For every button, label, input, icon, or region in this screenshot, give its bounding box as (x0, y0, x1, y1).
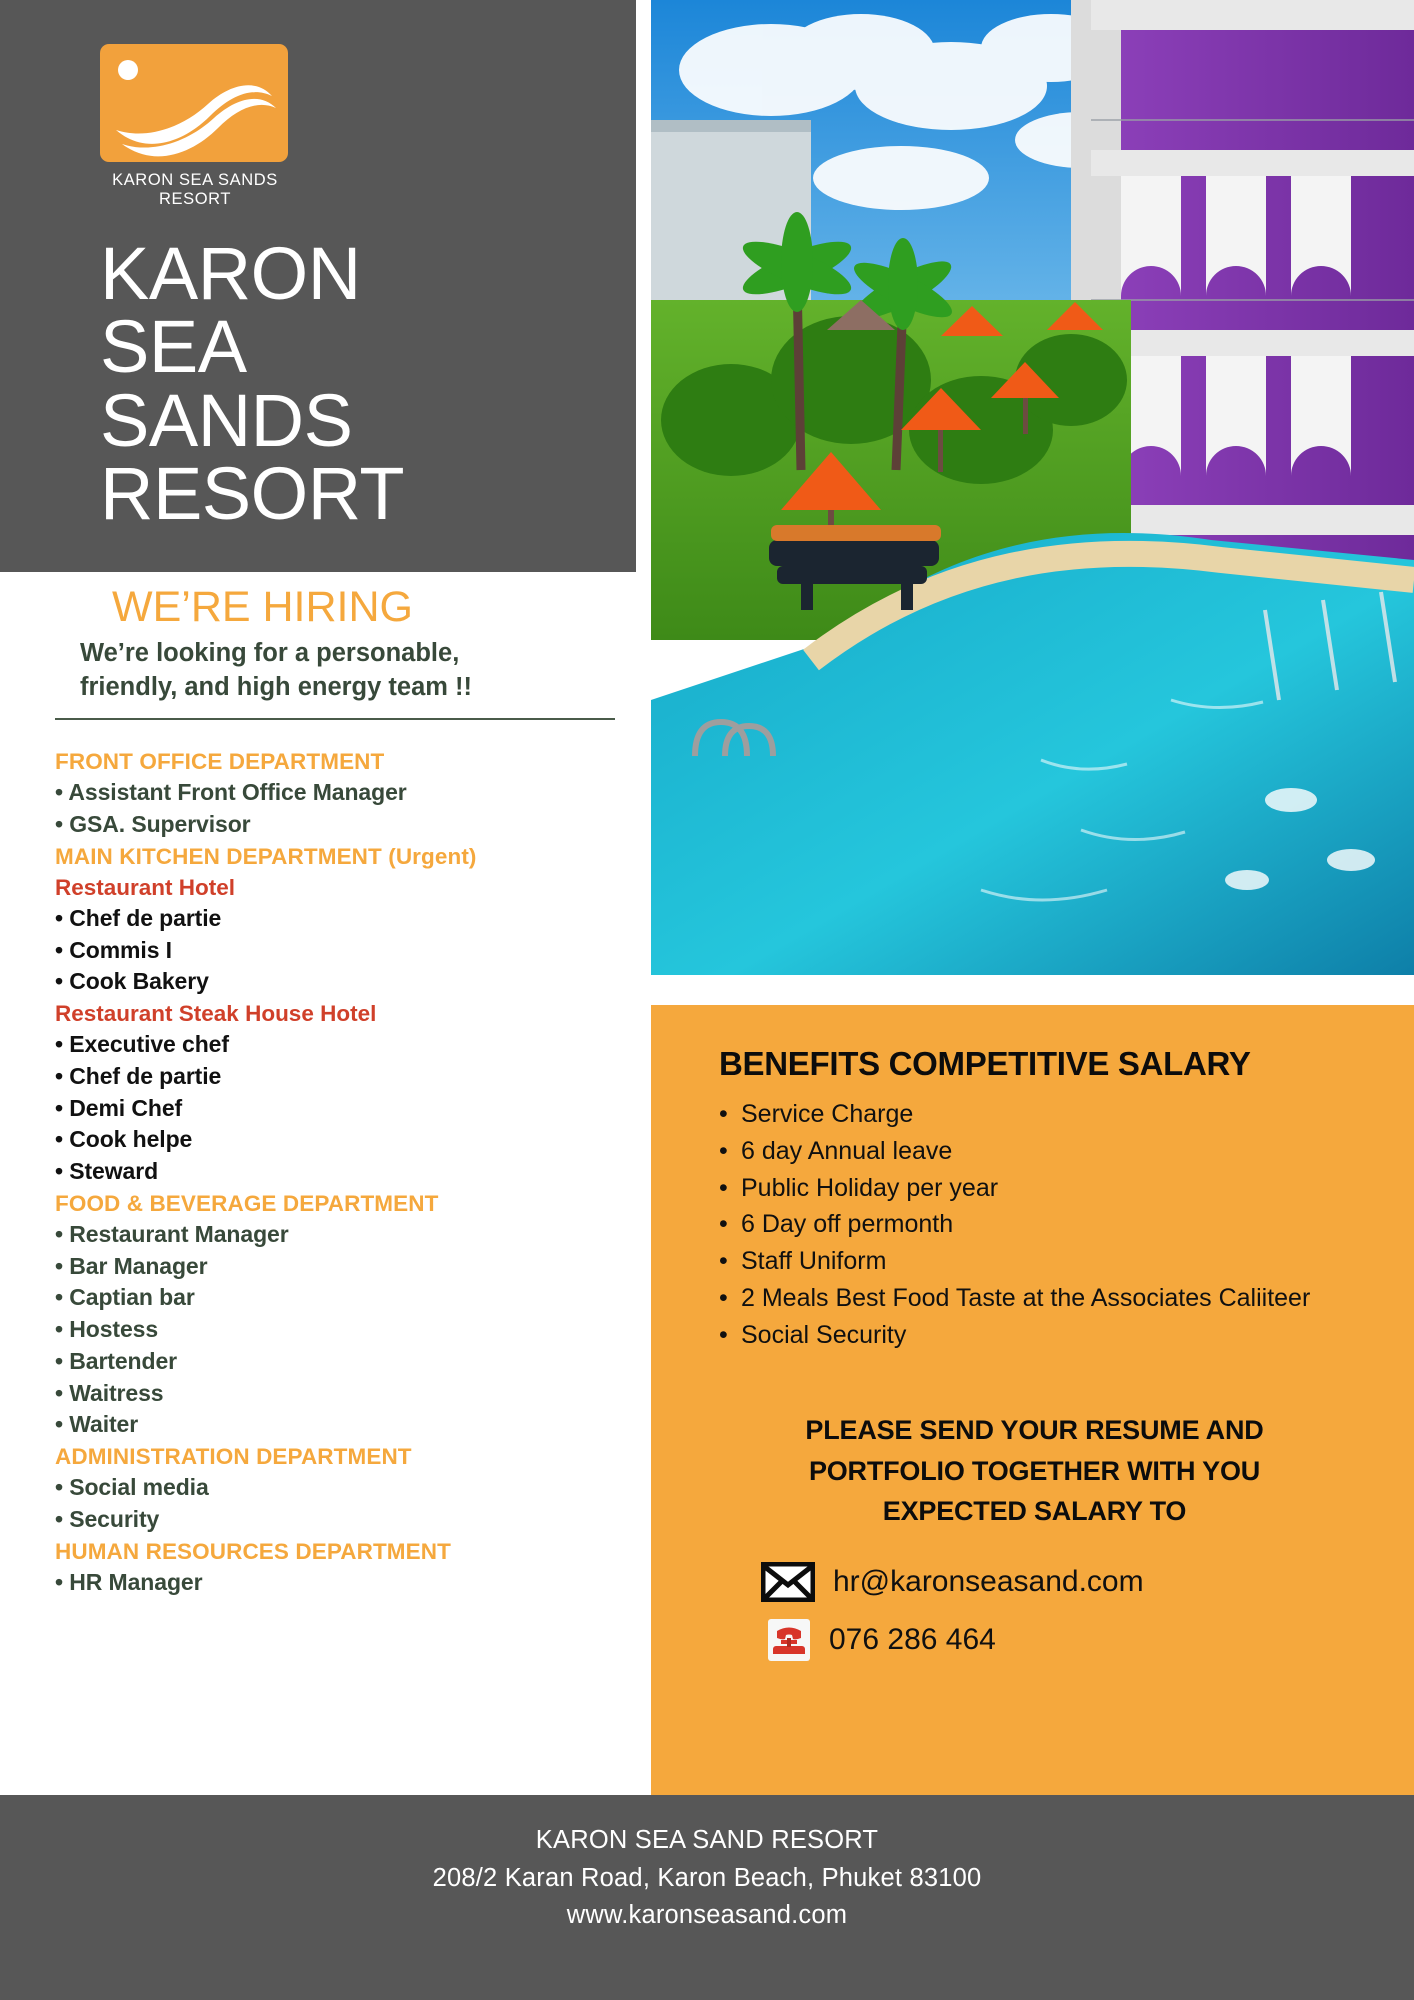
benefit-item: •6 Day off permonth (719, 1206, 1388, 1243)
footer-website[interactable]: www.karonseasand.com (0, 1897, 1414, 1935)
jobs-column: WE’RE HIRING We’re looking for a persona… (0, 572, 651, 1598)
brand-title-line-1: KARON (100, 237, 636, 310)
restaurant-subheading: Restaurant Hotel (55, 872, 645, 903)
job-listing-item: • Cook Bakery (55, 966, 645, 998)
footer-resort-name: KARON SEA SAND RESORT (0, 1822, 1414, 1860)
hiring-subline: We’re looking for a personable, friendly… (80, 636, 550, 704)
footer-address: 208/2 Karan Road, Karon Beach, Phuket 83… (0, 1860, 1414, 1898)
job-listing-item: • Waitress (55, 1378, 645, 1410)
job-listing-item: • Captian bar (55, 1282, 645, 1314)
job-listing-item: • Commis I (55, 935, 645, 967)
job-listing-item: • HR Manager (55, 1567, 645, 1599)
job-listing-item: • Waiter (55, 1409, 645, 1441)
telephone-icon (767, 1618, 811, 1662)
brand-title: KARON SEA SANDS RESORT (100, 237, 636, 530)
job-listing-item: • Chef de partie (55, 1061, 645, 1093)
job-listing-item: • Assistant Front Office Manager (55, 777, 645, 809)
job-listing-item: • Bartender (55, 1346, 645, 1378)
job-listing-item: • Cook helpe (55, 1124, 645, 1156)
benefit-label: Staff Uniform (741, 1243, 886, 1280)
job-listing-item: • Hostess (55, 1314, 645, 1346)
benefit-label: 6 Day off permonth (741, 1206, 953, 1243)
brand-title-line-4: RESORT (100, 457, 636, 530)
hiring-headline: WE’RE HIRING (112, 586, 651, 629)
hiring-subline-1: We’re looking for a personable, (80, 636, 550, 670)
resort-logo-icon (100, 44, 288, 162)
hiring-subline-2: friendly, and high energy team !! (80, 670, 550, 704)
benefit-item: •6 day Annual leave (719, 1133, 1388, 1170)
benefit-label: Social Security (741, 1317, 906, 1354)
send-resume-instructions: PLEASE SEND YOUR RESUME AND PORTFOLIO TO… (681, 1410, 1388, 1532)
department-heading: ADMINISTRATION DEPARTMENT (55, 1441, 645, 1472)
logo-wave-icon (100, 44, 288, 162)
brand-title-line-2: SEA (100, 310, 636, 383)
job-listing-item: • Security (55, 1504, 645, 1536)
benefit-label: 6 day Annual leave (741, 1133, 952, 1170)
benefit-label: 2 Meals Best Food Taste at the Associate… (741, 1280, 1310, 1317)
job-listing-item: • Social media (55, 1472, 645, 1504)
department-heading: FRONT OFFICE DEPARTMENT (55, 746, 645, 777)
job-listing-item: • GSA. Supervisor (55, 809, 645, 841)
benefit-item: •2 Meals Best Food Taste at the Associat… (719, 1280, 1388, 1317)
bullet-icon: • (719, 1096, 741, 1133)
job-listing-item: • Executive chef (55, 1029, 645, 1061)
pool-scene-illustration (651, 0, 1414, 975)
job-listing-item: • Chef de partie (55, 903, 645, 935)
benefit-item: •Social Security (719, 1317, 1388, 1354)
brand-title-line-3: SANDS (100, 384, 636, 457)
department-heading: MAIN KITCHEN DEPARTMENT (Urgent) (55, 841, 645, 872)
send-line-1: PLEASE SEND YOUR RESUME AND (717, 1410, 1352, 1451)
bullet-icon: • (719, 1280, 741, 1317)
benefits-title: BENEFITS COMPETITIVE SALARY (719, 1045, 1388, 1083)
benefit-label: Public Holiday per year (741, 1170, 998, 1207)
send-line-3: EXPECTED SALARY TO (717, 1491, 1352, 1532)
restaurant-subheading: Restaurant Steak House Hotel (55, 998, 645, 1029)
benefits-list: •Service Charge•6 day Annual leave•Publi… (681, 1096, 1388, 1353)
section-divider (55, 718, 615, 720)
benefits-panel: BENEFITS COMPETITIVE SALARY •Service Cha… (651, 1005, 1414, 1795)
benefit-item: •Staff Uniform (719, 1243, 1388, 1280)
benefit-label: Service Charge (741, 1096, 913, 1133)
department-heading: FOOD & BEVERAGE DEPARTMENT (55, 1188, 645, 1219)
logo-caption: KARON SEA SANDS RESORT (100, 171, 290, 209)
bullet-icon: • (719, 1206, 741, 1243)
bullet-icon: • (719, 1317, 741, 1354)
brand-panel: KARON SEA SANDS RESORT KARON SEA SANDS R… (0, 0, 636, 572)
job-listing-item: • Steward (55, 1156, 645, 1188)
bullet-icon: • (719, 1133, 741, 1170)
footer: KARON SEA SAND RESORT 208/2 Karan Road, … (0, 1795, 1414, 2000)
envelope-icon (761, 1562, 815, 1602)
email-address[interactable]: hr@karonseasand.com (833, 1565, 1144, 1599)
department-heading: HUMAN RESOURCES DEPARTMENT (55, 1536, 645, 1567)
phone-contact-row[interactable]: 076 286 464 (761, 1618, 1388, 1662)
department-list: FRONT OFFICE DEPARTMENT• Assistant Front… (55, 746, 645, 1598)
bullet-icon: • (719, 1243, 741, 1280)
job-listing-item: • Demi Chef (55, 1093, 645, 1125)
job-listing-item: • Restaurant Manager (55, 1219, 645, 1251)
send-line-2: PORTFOLIO TOGETHER WITH YOU (717, 1451, 1352, 1492)
phone-number[interactable]: 076 286 464 (829, 1623, 996, 1657)
resort-pool-photo (651, 0, 1414, 975)
email-contact-row[interactable]: hr@karonseasand.com (761, 1562, 1388, 1602)
benefit-item: •Public Holiday per year (719, 1170, 1388, 1207)
bullet-icon: • (719, 1170, 741, 1207)
job-listing-item: • Bar Manager (55, 1251, 645, 1283)
benefit-item: •Service Charge (719, 1096, 1388, 1133)
